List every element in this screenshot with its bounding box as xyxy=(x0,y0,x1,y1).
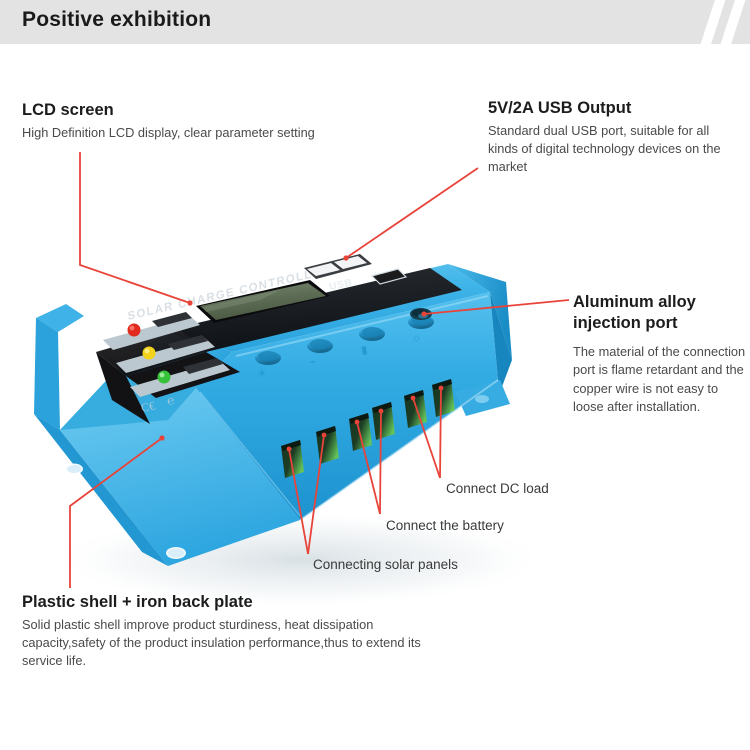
svg-text:C€: C€ xyxy=(140,398,157,415)
device-buttons xyxy=(255,315,434,365)
callout-shell-body: Solid plastic shell improve product stur… xyxy=(22,616,442,670)
callout-lcd-screen: LCD screen High Definition LCD display, … xyxy=(22,100,402,142)
leader-line-lcd xyxy=(80,152,190,303)
callout-aluminum-title: Aluminum alloy injection port xyxy=(573,292,749,333)
leader-line-aluminum xyxy=(424,300,569,314)
leader-line-battery-a xyxy=(357,422,380,514)
svg-text:☀: ☀ xyxy=(256,367,268,381)
leader-line-battery-b xyxy=(380,411,381,514)
leader-line-usb xyxy=(346,168,478,258)
device-brand-text: SOLAR CHARGE CONTROLLER xyxy=(127,264,331,323)
callout-shell-title: Plastic shell + iron back plate xyxy=(22,592,442,613)
terminal-ports xyxy=(281,379,455,478)
callout-lcd-body: High Definition LCD display, clear param… xyxy=(22,124,402,142)
callout-aluminum-body: The material of the connection port is f… xyxy=(573,343,749,416)
label-connect-dc-load: Connect DC load xyxy=(446,481,549,496)
leader-line-shell xyxy=(70,438,162,588)
infographic-page: Positive exhibition xyxy=(0,0,750,750)
leader-line-solar-a xyxy=(289,449,308,554)
callout-aluminum-port: Aluminum alloy injection port The materi… xyxy=(573,292,749,416)
label-connect-battery: Connect the battery xyxy=(386,518,504,533)
callout-lcd-title: LCD screen xyxy=(22,100,402,121)
svg-text:☼: ☼ xyxy=(410,331,422,345)
leader-dot-shell xyxy=(159,435,164,440)
callout-usb-output: 5V/2A USB Output Standard dual USB port,… xyxy=(488,98,738,176)
leader-dot-lcd xyxy=(187,300,192,305)
leader-line-solar-b xyxy=(308,435,324,554)
label-connecting-solar-panels: Connecting solar panels xyxy=(313,557,458,572)
svg-text:⌁: ⌁ xyxy=(308,356,317,369)
callout-plastic-shell: Plastic shell + iron back plate Solid pl… xyxy=(22,592,442,670)
leader-dot-usb xyxy=(343,255,348,260)
callout-usb-body: Standard dual USB port, suitable for all… xyxy=(488,122,738,176)
page-title: Positive exhibition xyxy=(22,8,211,32)
aluminum-injection-port xyxy=(410,308,432,320)
callout-usb-title: 5V/2A USB Output xyxy=(488,98,738,119)
leader-line-dc-load-a xyxy=(413,398,440,478)
svg-text:▮: ▮ xyxy=(360,344,368,357)
leader-line-dc-load-b xyxy=(440,388,441,478)
usb-port-label: USB xyxy=(328,277,353,293)
svg-text:℮: ℮ xyxy=(166,393,176,408)
leader-dot-aluminum xyxy=(421,311,426,316)
